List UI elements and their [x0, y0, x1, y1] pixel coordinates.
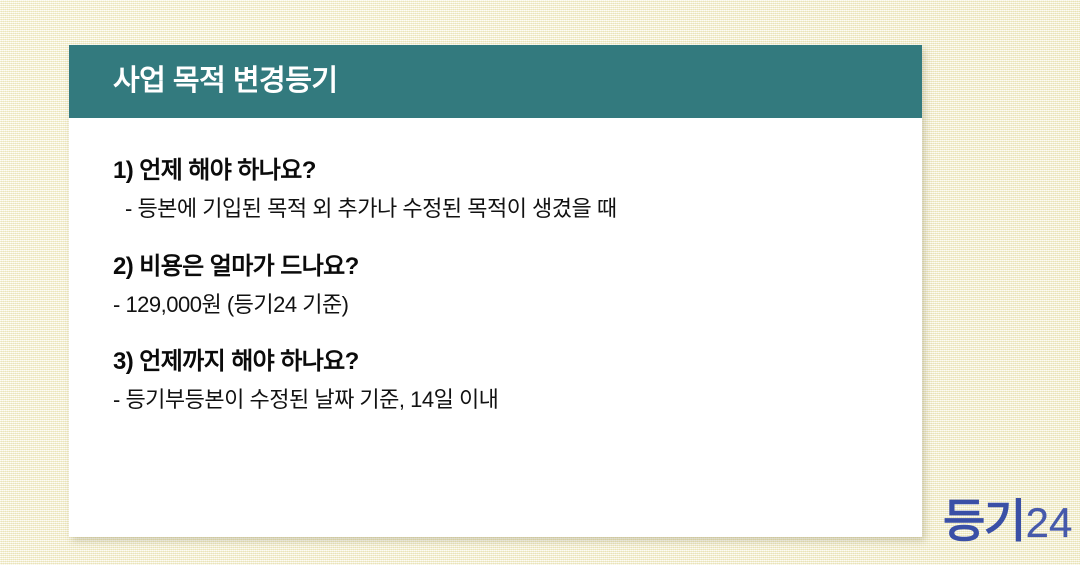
- qa-block-2: 2) 비용은 얼마가 드나요? - 129,000원 (등기24 기준): [113, 252, 878, 319]
- qa-question-1: 1) 언제 해야 하나요?: [113, 156, 878, 186]
- card-header: 사업 목적 변경등기: [69, 45, 922, 118]
- card-body: 1) 언제 해야 하나요? - 등본에 기입된 목적 외 추가나 수정된 목적이…: [69, 118, 922, 414]
- qa-answer-1: - 등본에 기입된 목적 외 추가나 수정된 목적이 생겼을 때: [113, 195, 878, 223]
- card-title: 사업 목적 변경등기: [113, 67, 338, 96]
- qa-answer-3: - 등기부등본이 수정된 날짜 기준, 14일 이내: [113, 386, 878, 414]
- qa-question-3: 3) 언제까지 해야 하나요?: [113, 347, 878, 377]
- qa-block-1: 1) 언제 해야 하나요? - 등본에 기입된 목적 외 추가나 수정된 목적이…: [113, 156, 878, 223]
- qa-answer-2: - 129,000원 (등기24 기준): [113, 291, 878, 319]
- brand-logo: 등기 24: [943, 498, 1072, 544]
- brand-logo-name: 등기: [943, 498, 1025, 544]
- qa-question-2: 2) 비용은 얼마가 드나요?: [113, 252, 878, 282]
- brand-logo-suffix: 24: [1026, 502, 1073, 544]
- qa-block-3: 3) 언제까지 해야 하나요? - 등기부등본이 수정된 날짜 기준, 14일 …: [113, 347, 878, 414]
- info-card: 사업 목적 변경등기 1) 언제 해야 하나요? - 등본에 기입된 목적 외 …: [69, 45, 922, 537]
